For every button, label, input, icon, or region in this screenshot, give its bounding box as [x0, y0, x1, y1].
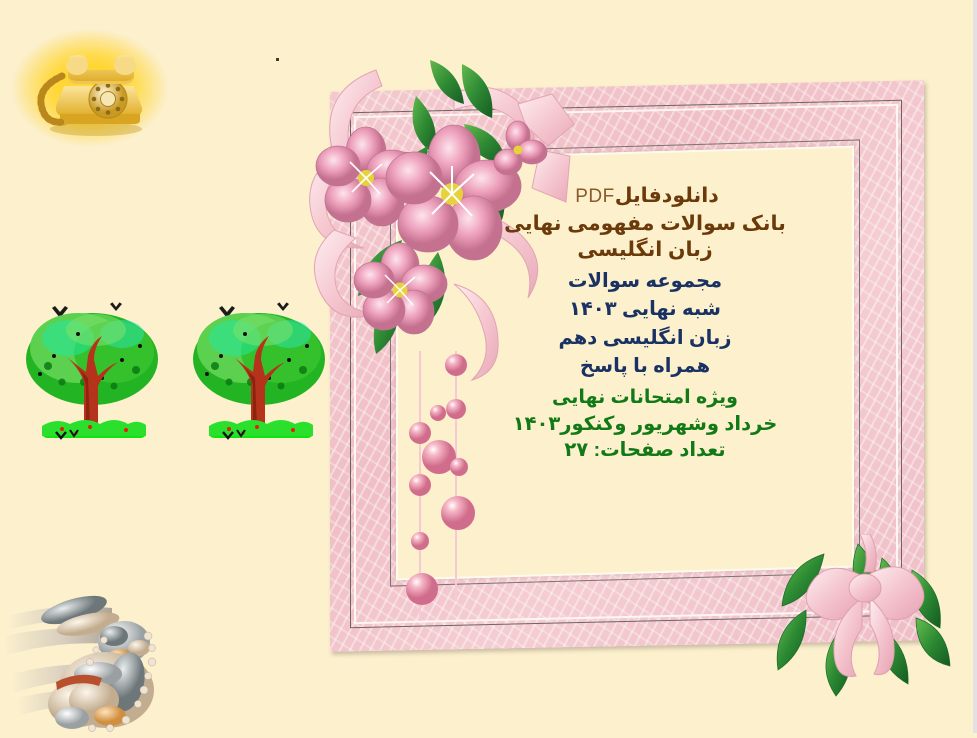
download-line: دانلودفایلPDF	[470, 186, 820, 214]
download-label: دانلودفایل	[615, 184, 719, 207]
dust-speck	[276, 58, 279, 61]
poster-canvas: دانلودفایلPDF بانک سوالات مفهومی نهایی ز…	[0, 0, 977, 733]
tree-icon	[18, 286, 168, 451]
rotary-telephone-icon	[30, 46, 155, 138]
title-line-2: زبان انگلیسی	[470, 240, 820, 272]
format-label: PDF	[571, 186, 615, 207]
note-line-1: ویژه امتحانات نهایی	[470, 388, 820, 415]
note-line-2: خرداد وشهریور وکنکور۱۴۰۳	[470, 415, 820, 442]
pink-bow-leaves-icon	[770, 534, 960, 704]
card-text-block: دانلودفایلPDF بانک سوالات مفهومی نهایی ز…	[470, 186, 820, 461]
page-count-line: تعداد صفحات: ۲۷	[470, 441, 820, 461]
telephone-decoration	[4, 18, 176, 158]
stone-rabbit-decoration	[2, 578, 172, 733]
stone-rabbit-icon	[2, 578, 172, 733]
subtitle-line-1: مجموعه سوالات	[470, 272, 820, 301]
subtitle-line-2: شبه نهایی ۱۴۰۳	[470, 300, 820, 329]
title-line-1: بانک سوالات مفهومی نهایی	[470, 214, 820, 241]
subtitle-line-3: زبان انگلیسی دهم	[470, 329, 820, 358]
subtitle-line-4: همراه با پاسخ	[470, 357, 820, 388]
